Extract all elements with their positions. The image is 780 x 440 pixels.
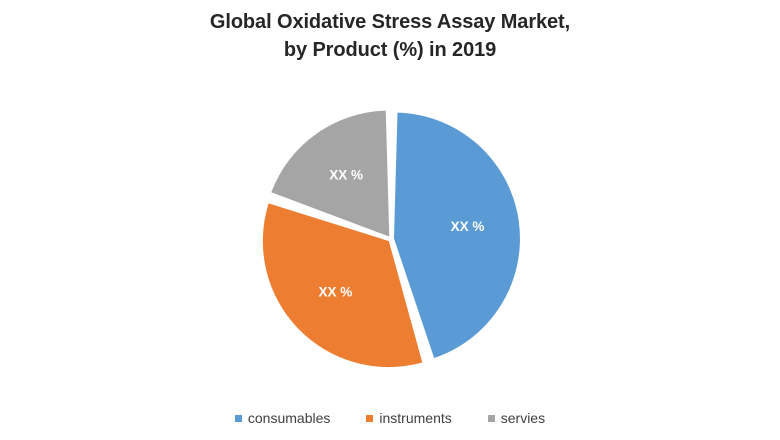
chart-legend: consumables instruments servies [0,410,780,426]
pie-slice-consumables[interactable] [394,113,520,358]
legend-swatch-servies [488,415,495,422]
pie-label-instruments: XX % [319,284,353,299]
chart-title-line-1: Global Oxidative Stress Assay Market, [0,8,780,36]
legend-swatch-instruments [366,415,373,422]
legend-label-consumables: consumables [248,410,331,426]
chart-canvas: Global Oxidative Stress Assay Market, by… [0,0,780,440]
legend-label-servies: servies [501,410,545,426]
legend-item-consumables[interactable]: consumables [235,410,331,426]
chart-title-line-2: by Product (%) in 2019 [0,36,780,64]
pie-slices [263,111,520,367]
pie-chart-plot-area: XX % XX % XX % [250,98,532,380]
pie-label-servies: XX % [329,168,363,183]
legend-swatch-consumables [235,415,242,422]
legend-label-instruments: instruments [379,410,451,426]
pie-label-consumables: XX % [451,219,485,234]
pie-chart-svg: XX % XX % XX % [250,98,532,380]
chart-title: Global Oxidative Stress Assay Market, by… [0,8,780,64]
legend-item-servies[interactable]: servies [488,410,545,426]
legend-item-instruments[interactable]: instruments [366,410,451,426]
